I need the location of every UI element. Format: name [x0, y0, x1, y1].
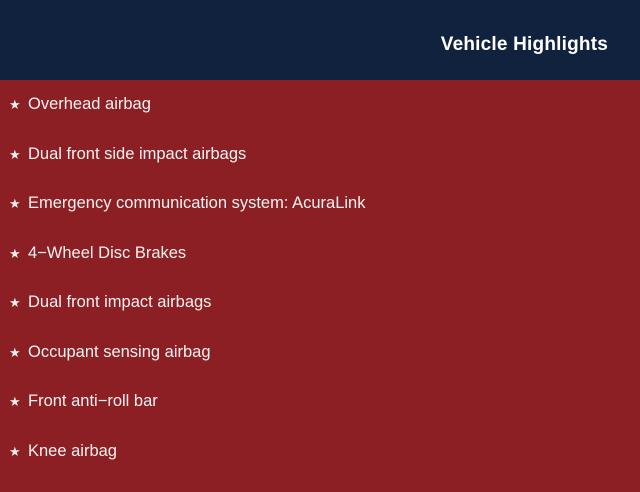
list-item: ★ Overhead airbag — [0, 96, 640, 146]
star-icon: ★ — [9, 395, 28, 408]
star-icon: ★ — [9, 247, 28, 260]
vehicle-highlights-list: ★ Overhead airbag ★ Dual front side impa… — [0, 80, 640, 492]
star-icon: ★ — [9, 445, 28, 458]
list-item-label: Knee airbag — [28, 443, 117, 460]
page-title: Vehicle Highlights — [441, 35, 608, 54]
list-item-label: Dual front side impact airbags — [28, 146, 246, 163]
vehicle-highlights-page: Vehicle Highlights ★ Overhead airbag ★ D… — [0, 0, 640, 480]
page-header: Vehicle Highlights — [0, 0, 640, 80]
list-item: ★ Emergency communication system: AcuraL… — [0, 195, 640, 245]
list-item: ★ Knee airbag — [0, 443, 640, 492]
list-item-label: 4−Wheel Disc Brakes — [28, 245, 186, 262]
list-item: ★ Dual front side impact airbags — [0, 146, 640, 196]
star-icon: ★ — [9, 148, 28, 161]
star-icon: ★ — [9, 98, 28, 111]
list-item: ★ 4−Wheel Disc Brakes — [0, 245, 640, 295]
star-icon: ★ — [9, 296, 28, 309]
star-icon: ★ — [9, 346, 28, 359]
list-item: ★ Front anti−roll bar — [0, 393, 640, 443]
list-item-label: Occupant sensing airbag — [28, 344, 211, 361]
list-item-label: Overhead airbag — [28, 96, 151, 113]
list-item-label: Front anti−roll bar — [28, 393, 158, 410]
list-item: ★ Occupant sensing airbag — [0, 344, 640, 394]
list-item-label: Emergency communication system: AcuraLin… — [28, 195, 365, 212]
list-item: ★ Dual front impact airbags — [0, 294, 640, 344]
list-item-label: Dual front impact airbags — [28, 294, 211, 311]
star-icon: ★ — [9, 197, 28, 210]
